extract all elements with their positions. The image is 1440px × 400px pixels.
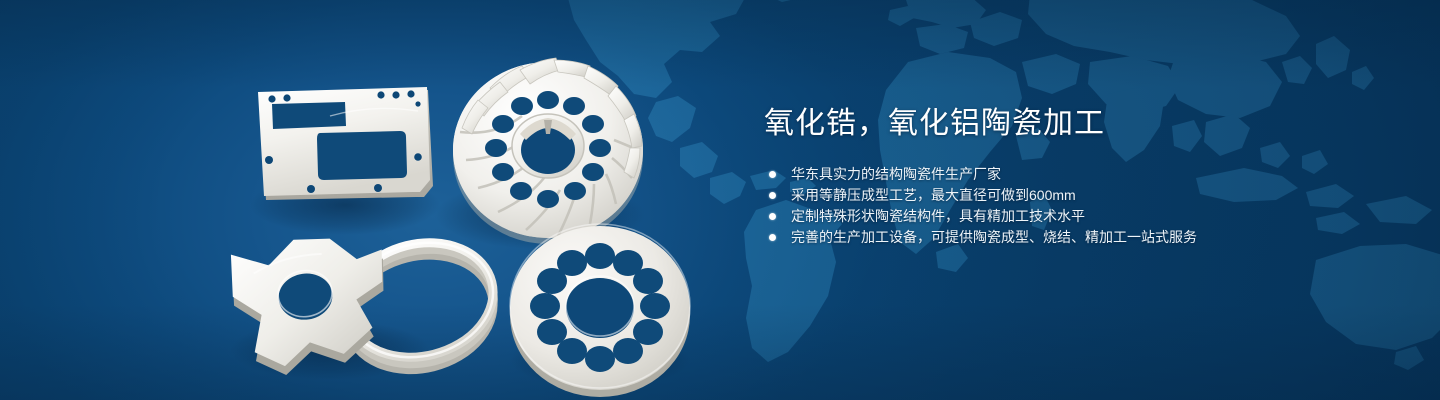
bullet-dot-icon bbox=[769, 192, 776, 199]
bullet-dot-icon bbox=[769, 171, 776, 178]
list-item: 定制特殊形状陶瓷结构件，具有精加工技术水平 bbox=[764, 206, 1384, 227]
banner-text-block: 氧化锆，氧化铝陶瓷加工 华东具实力的结构陶瓷件生产厂家 采用等静压成型工艺，最大… bbox=[764, 104, 1384, 248]
ceramic-flat-plate bbox=[258, 87, 433, 200]
list-item-label: 华东具实力的结构陶瓷件生产厂家 bbox=[791, 164, 1001, 185]
ceramic-products-image bbox=[0, 0, 760, 400]
ceramic-perforated-disc bbox=[510, 224, 690, 397]
list-item: 完善的生产加工设备，可提供陶瓷成型、烧结、精加工一站式服务 bbox=[764, 227, 1384, 248]
feature-list: 华东具实力的结构陶瓷件生产厂家 采用等静压成型工艺，最大直径可做到600mm 定… bbox=[764, 164, 1384, 248]
list-item: 采用等静压成型工艺，最大直径可做到600mm bbox=[764, 185, 1384, 206]
bullet-dot-icon bbox=[769, 234, 776, 241]
list-item-label: 采用等静压成型工艺，最大直径可做到600mm bbox=[791, 185, 1076, 206]
ceramic-product-banner: 氧化锆，氧化铝陶瓷加工 华东具实力的结构陶瓷件生产厂家 采用等静压成型工艺，最大… bbox=[0, 0, 1440, 400]
ceramic-impeller bbox=[453, 58, 643, 244]
list-item-label: 定制特殊形状陶瓷结构件，具有精加工技术水平 bbox=[791, 206, 1085, 227]
page-title: 氧化锆，氧化铝陶瓷加工 bbox=[764, 104, 1384, 144]
bullet-dot-icon bbox=[769, 213, 776, 220]
list-item: 华东具实力的结构陶瓷件生产厂家 bbox=[764, 164, 1384, 185]
list-item-label: 完善的生产加工设备，可提供陶瓷成型、烧结、精加工一站式服务 bbox=[791, 227, 1197, 248]
